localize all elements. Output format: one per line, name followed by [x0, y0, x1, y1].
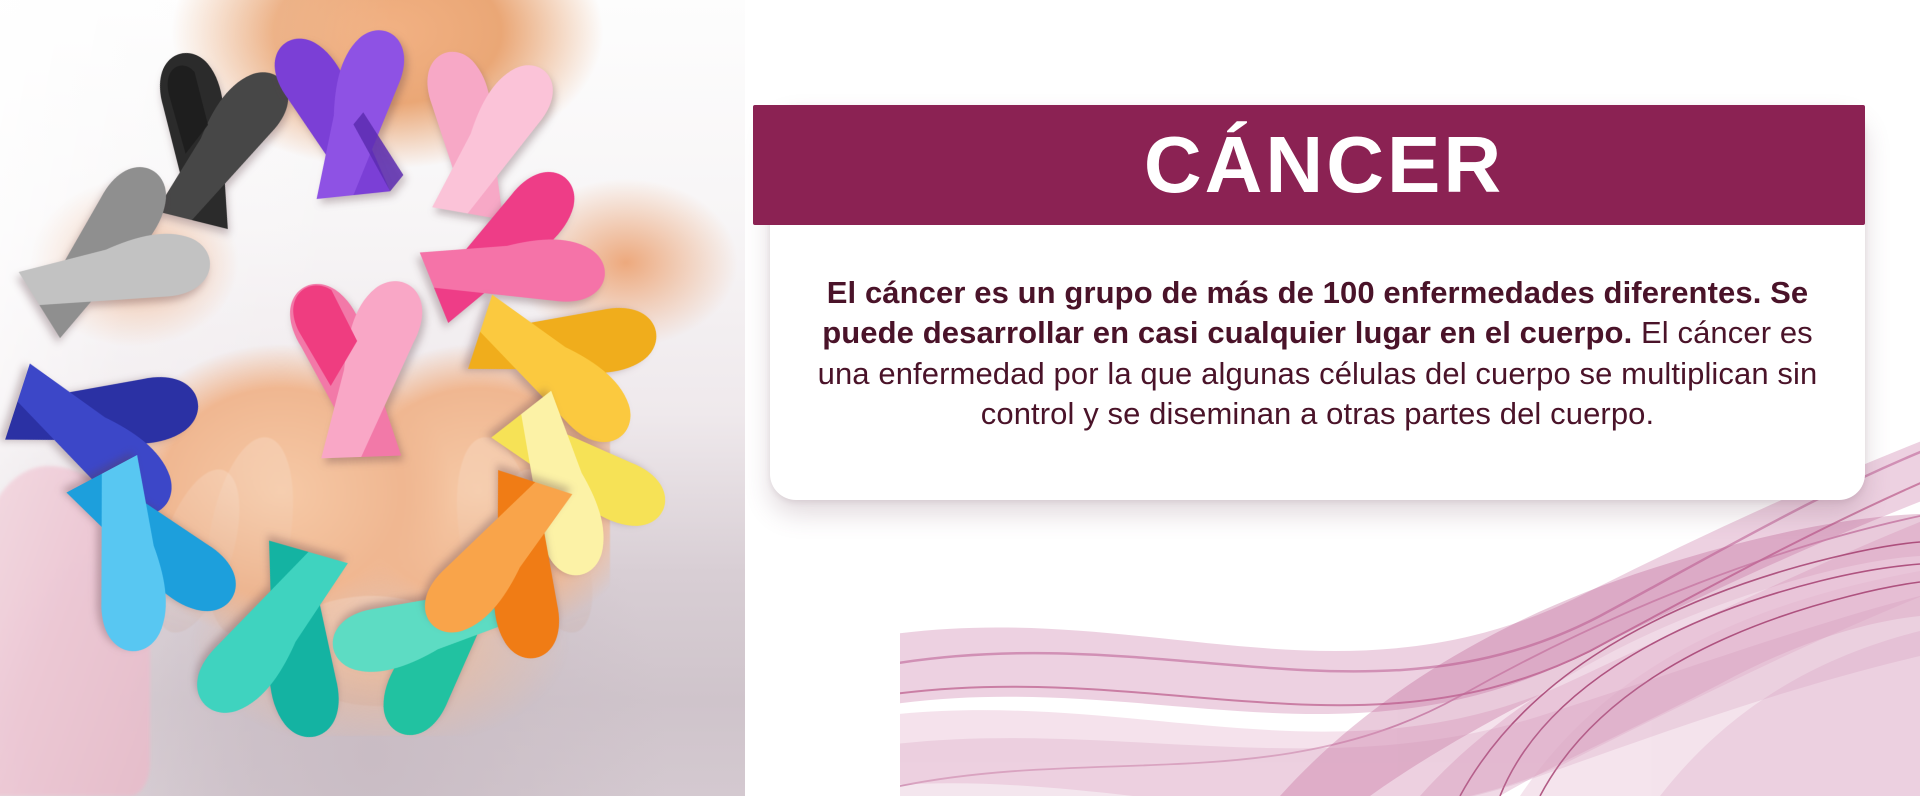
- card-body: El cáncer es un grupo de más de 100 enfe…: [770, 231, 1865, 434]
- content-card: CÁNCER El cáncer es un grupo de más de 1…: [770, 105, 1865, 500]
- hands-ribbons-photo: [0, 0, 745, 796]
- page-title: CÁNCER: [1114, 125, 1504, 205]
- title-banner: CÁNCER: [753, 105, 1865, 225]
- slide-canvas: CÁNCER El cáncer es un grupo de más de 1…: [0, 0, 1920, 796]
- ribbon-pink-center: [254, 247, 462, 484]
- body-paragraph: El cáncer es un grupo de más de 100 enfe…: [814, 273, 1821, 434]
